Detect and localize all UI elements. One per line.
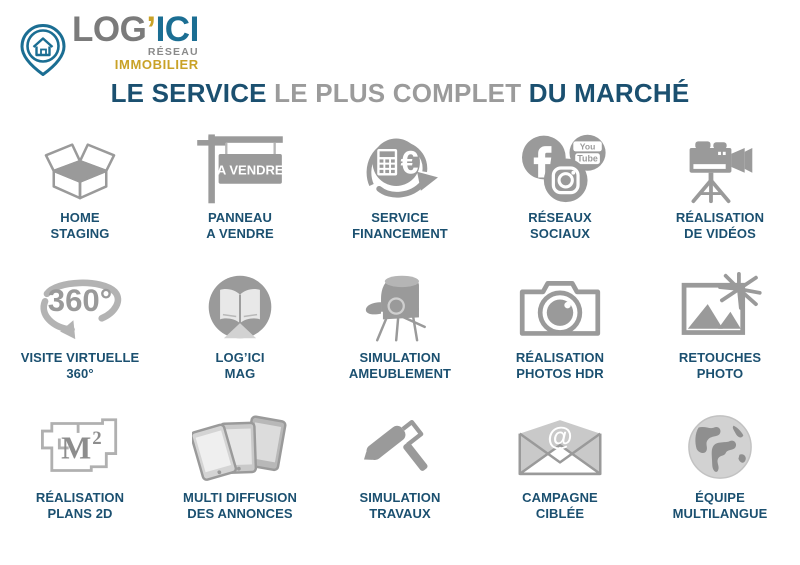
for-sale-sign-icon: A VENDRE: [184, 128, 296, 206]
service-label: LOG’ICIMAG: [215, 350, 264, 383]
page-title-part3: DU MARCHÉ: [529, 78, 690, 108]
svg-text:Tube: Tube: [577, 154, 598, 164]
service-tile[interactable]: You Tube RÉSEAUXSOCIAUX: [480, 128, 640, 268]
logo-apostrophe: ’: [146, 10, 155, 49]
instagram-icon: [544, 158, 588, 202]
service-tile[interactable]: @ CAMPAGNECIBLÉE: [480, 408, 640, 548]
service-tile[interactable]: RÉALISATIONDE VIDÉOS: [640, 128, 800, 268]
map-pin-house-icon: [20, 24, 66, 76]
service-label: RÉALISATIONDE VIDÉOS: [676, 210, 764, 243]
logo-name-part2: ICI: [156, 10, 199, 49]
360-arrow-icon: 360°: [28, 268, 132, 346]
page-title-part1: LE SERVICE: [111, 78, 267, 108]
service-tile[interactable]: ÉQUIPEMULTILANGUE: [640, 408, 800, 548]
armchair-icon: [358, 268, 442, 346]
service-label: SIMULATIONAMEUBLEMENT: [349, 350, 451, 383]
service-label: RÉALISATIONPHOTOS HDR: [516, 350, 604, 383]
service-label: CAMPAGNECIBLÉE: [522, 490, 598, 523]
logo-name-part1: LOG: [72, 10, 146, 49]
service-label: HOMESTAGING: [51, 210, 110, 243]
svg-text:€: €: [401, 145, 419, 181]
service-tile[interactable]: HOMESTAGING: [0, 128, 160, 268]
service-tile[interactable]: 360° VISITE VIRTUELLE360°: [0, 268, 160, 408]
page-title: LE SERVICE LE PLUS COMPLET DU MARCHÉ: [0, 78, 800, 109]
service-label: SERVICEFINANCEMENT: [352, 210, 448, 243]
picture-sparkle-icon: [676, 268, 764, 346]
services-grid: HOMESTAGING A VENDRE PANNEAUA VENDRE: [0, 128, 800, 548]
photo-camera-icon: [516, 268, 604, 346]
service-tile[interactable]: RETOUCHESPHOTO: [640, 268, 800, 408]
svg-text:M: M: [61, 430, 91, 465]
service-label: RETOUCHESPHOTO: [679, 350, 761, 383]
service-tile[interactable]: MULTI DIFFUSIONDES ANNONCES: [160, 408, 320, 548]
service-tile[interactable]: A VENDRE PANNEAUA VENDRE: [160, 128, 320, 268]
service-label: RÉALISATIONPLANS 2D: [36, 490, 124, 523]
service-label: PANNEAUA VENDRE: [206, 210, 274, 243]
paint-roller-icon: [360, 408, 440, 486]
service-tile[interactable]: RÉALISATIONPHOTOS HDR: [480, 268, 640, 408]
open-box-icon: [36, 128, 124, 206]
service-label: VISITE VIRTUELLE360°: [21, 350, 140, 383]
social-networks-icon: You Tube: [512, 128, 608, 206]
euro-calculator-arrow-icon: €: [354, 128, 446, 206]
svg-text:2: 2: [92, 428, 101, 449]
sign-text: A VENDRE: [217, 162, 284, 177]
service-tile[interactable]: € SERVICEFINANCEMENT: [320, 128, 480, 268]
tablets-icon: [192, 408, 288, 486]
service-tile[interactable]: SIMULATIONTRAVAUX: [320, 408, 480, 548]
service-tile[interactable]: M 2 RÉALISATIONPLANS 2D: [0, 408, 160, 548]
icon-text: 360°: [48, 283, 112, 318]
brand-logo: LOG’ICI RÉSEAU IMMOBILIER: [20, 12, 199, 88]
open-book-circle-icon: [203, 268, 277, 346]
service-tile[interactable]: LOG’ICIMAG: [160, 268, 320, 408]
video-camera-tripod-icon: [674, 128, 766, 206]
service-label: SIMULATIONTRAVAUX: [360, 490, 441, 523]
service-label: RÉSEAUXSOCIAUX: [528, 210, 592, 243]
email-at-envelope-icon: @: [514, 408, 606, 486]
service-label: MULTI DIFFUSIONDES ANNONCES: [183, 490, 297, 523]
globe-icon: [685, 408, 755, 486]
floorplan-m2-icon: M 2: [34, 408, 126, 486]
page-title-part2: LE PLUS COMPLET: [274, 78, 521, 108]
service-tile[interactable]: SIMULATIONAMEUBLEMENT: [320, 268, 480, 408]
logo-tagline-immobilier: IMMOBILIER: [72, 58, 199, 72]
svg-text:You: You: [580, 142, 596, 152]
service-label: ÉQUIPEMULTILANGUE: [673, 490, 768, 523]
icon-text: @: [547, 423, 572, 451]
